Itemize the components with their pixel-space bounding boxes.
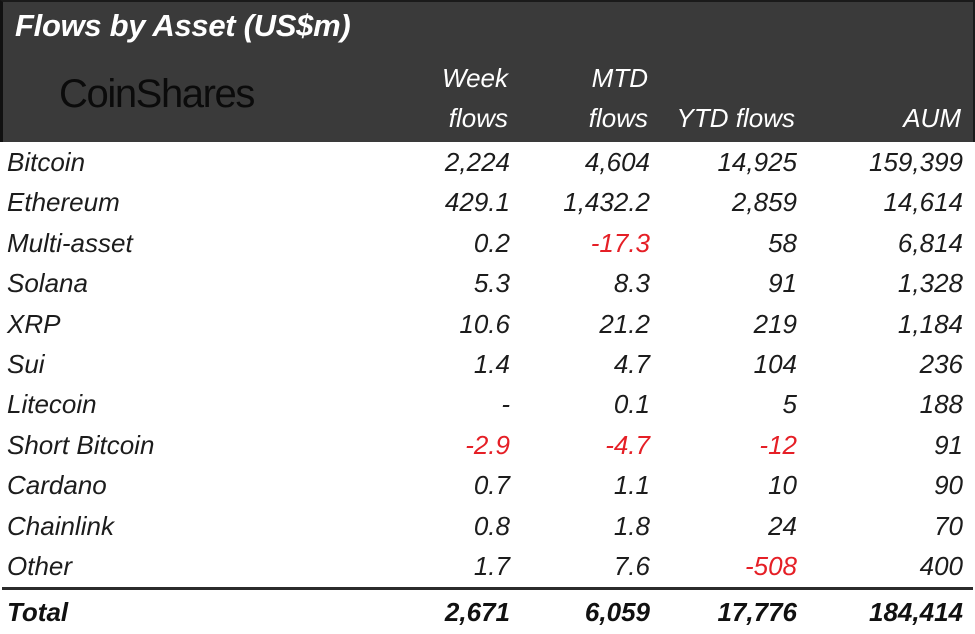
column-header-ytd-flows-line2: YTD flows [677,98,795,138]
cell-aum: 70 [934,506,963,546]
page-title: Flows by Asset (US$m) [15,8,350,44]
cell-aum: 188 [920,384,963,424]
cell-week-flows: 10.6 [459,304,510,344]
cell-aum: 91 [934,425,963,465]
cell-week-flows: - [501,384,510,424]
cell-aum: 236 [920,344,963,384]
table-row: Short Bitcoin-2.9-4.7-1291 [0,425,975,465]
cell-week-flows: 2,224 [445,142,510,182]
cell-mtd-flows: -17.3 [591,223,650,263]
cell-ytd-flows: 14,925 [717,142,797,182]
cell-asset-name: Short Bitcoin [7,425,154,465]
cell-week-flows: 0.2 [474,223,510,263]
table-body: Bitcoin2,2244,60414,925159,399Ethereum42… [0,142,975,586]
cell-ytd-flows: 104 [754,344,797,384]
cell-asset-name: Cardano [7,465,107,505]
column-header-ytd-flows: YTD flows [677,98,795,138]
table-row: Ethereum429.11,432.22,85914,614 [0,182,975,222]
cell-ytd-flows: 58 [768,223,797,263]
cell-mtd-flows: 7.6 [614,546,650,586]
column-header-mtd-flows-line1: MTD [589,58,648,98]
table-row: Bitcoin2,2244,60414,925159,399 [0,142,975,182]
flows-by-asset-table: Flows by Asset (US$m) CoinShares Week fl… [0,0,975,634]
cell-week-flows: 0.7 [474,465,510,505]
table-row: Litecoin-0.15188 [0,384,975,424]
table-row: Other1.77.6-508400 [0,546,975,586]
cell-aum: 14,614 [883,182,963,222]
cell-ytd-flows: 2,859 [732,182,797,222]
cell-ytd-flows: 219 [754,304,797,344]
cell-mtd-flows: 4,604 [585,142,650,182]
cell-mtd-flows: 0.1 [614,384,650,424]
cell-mtd-flows: -4.7 [605,425,650,465]
coinshares-logo: CoinShares [59,74,254,114]
column-header-week-flows-line1: Week [442,58,508,98]
cell-mtd-flows: 4.7 [614,344,650,384]
cell-aum: 159,399 [869,142,963,182]
column-header-aum-line2: AUM [903,98,961,138]
cell-mtd-flows: 1,432.2 [563,182,650,222]
cell-asset-name: Sui [7,344,45,384]
cell-ytd-flows: 5 [783,384,797,424]
cell-mtd-flows: 1.8 [614,506,650,546]
cell-ytd-flows: -508 [745,546,797,586]
cell-asset-name: XRP [7,304,60,344]
column-header-mtd-flows: MTD flows [589,58,648,138]
table-row: Chainlink0.81.82470 [0,506,975,546]
cell-aum: 1,328 [898,263,963,303]
table-header-band: Flows by Asset (US$m) CoinShares Week fl… [0,0,975,142]
table-row: Sui1.44.7104236 [0,344,975,384]
cell-asset-name: Chainlink [7,506,114,546]
cell-week-flows: -2.9 [465,425,510,465]
cell-asset-name: Multi-asset [7,223,133,263]
cell-aum: 90 [934,465,963,505]
column-header-mtd-flows-line2: flows [589,98,648,138]
cell-aum: 400 [920,546,963,586]
cell-asset-name: Other [7,546,72,586]
total-mtd-flows: 6,059 [585,590,650,634]
column-header-aum: AUM [903,98,961,138]
cell-ytd-flows: 91 [768,263,797,303]
table-row-total: Total 2,671 6,059 17,776 184,414 [0,590,975,634]
cell-asset-name: Bitcoin [7,142,85,182]
total-ytd-flows: 17,776 [717,590,797,634]
cell-aum: 1,184 [898,304,963,344]
cell-asset-name: Solana [7,263,88,303]
cell-mtd-flows: 21.2 [599,304,650,344]
total-week-flows: 2,671 [445,590,510,634]
cell-asset-name: Ethereum [7,182,120,222]
cell-ytd-flows: -12 [759,425,797,465]
cell-ytd-flows: 10 [768,465,797,505]
cell-week-flows: 429.1 [445,182,510,222]
table-row: Solana5.38.3911,328 [0,263,975,303]
cell-asset-name: Litecoin [7,384,97,424]
cell-aum: 6,814 [898,223,963,263]
cell-week-flows: 1.4 [474,344,510,384]
column-header-week-flows: Week flows [442,58,508,138]
cell-ytd-flows: 24 [768,506,797,546]
table-row: XRP10.621.22191,184 [0,304,975,344]
cell-week-flows: 5.3 [474,263,510,303]
table-row: Multi-asset0.2-17.3586,814 [0,223,975,263]
total-label: Total [7,590,68,634]
cell-week-flows: 0.8 [474,506,510,546]
table-row: Cardano0.71.11090 [0,465,975,505]
cell-mtd-flows: 8.3 [614,263,650,303]
cell-week-flows: 1.7 [474,546,510,586]
cell-mtd-flows: 1.1 [614,465,650,505]
total-aum: 184,414 [869,590,963,634]
column-header-week-flows-line2: flows [442,98,508,138]
